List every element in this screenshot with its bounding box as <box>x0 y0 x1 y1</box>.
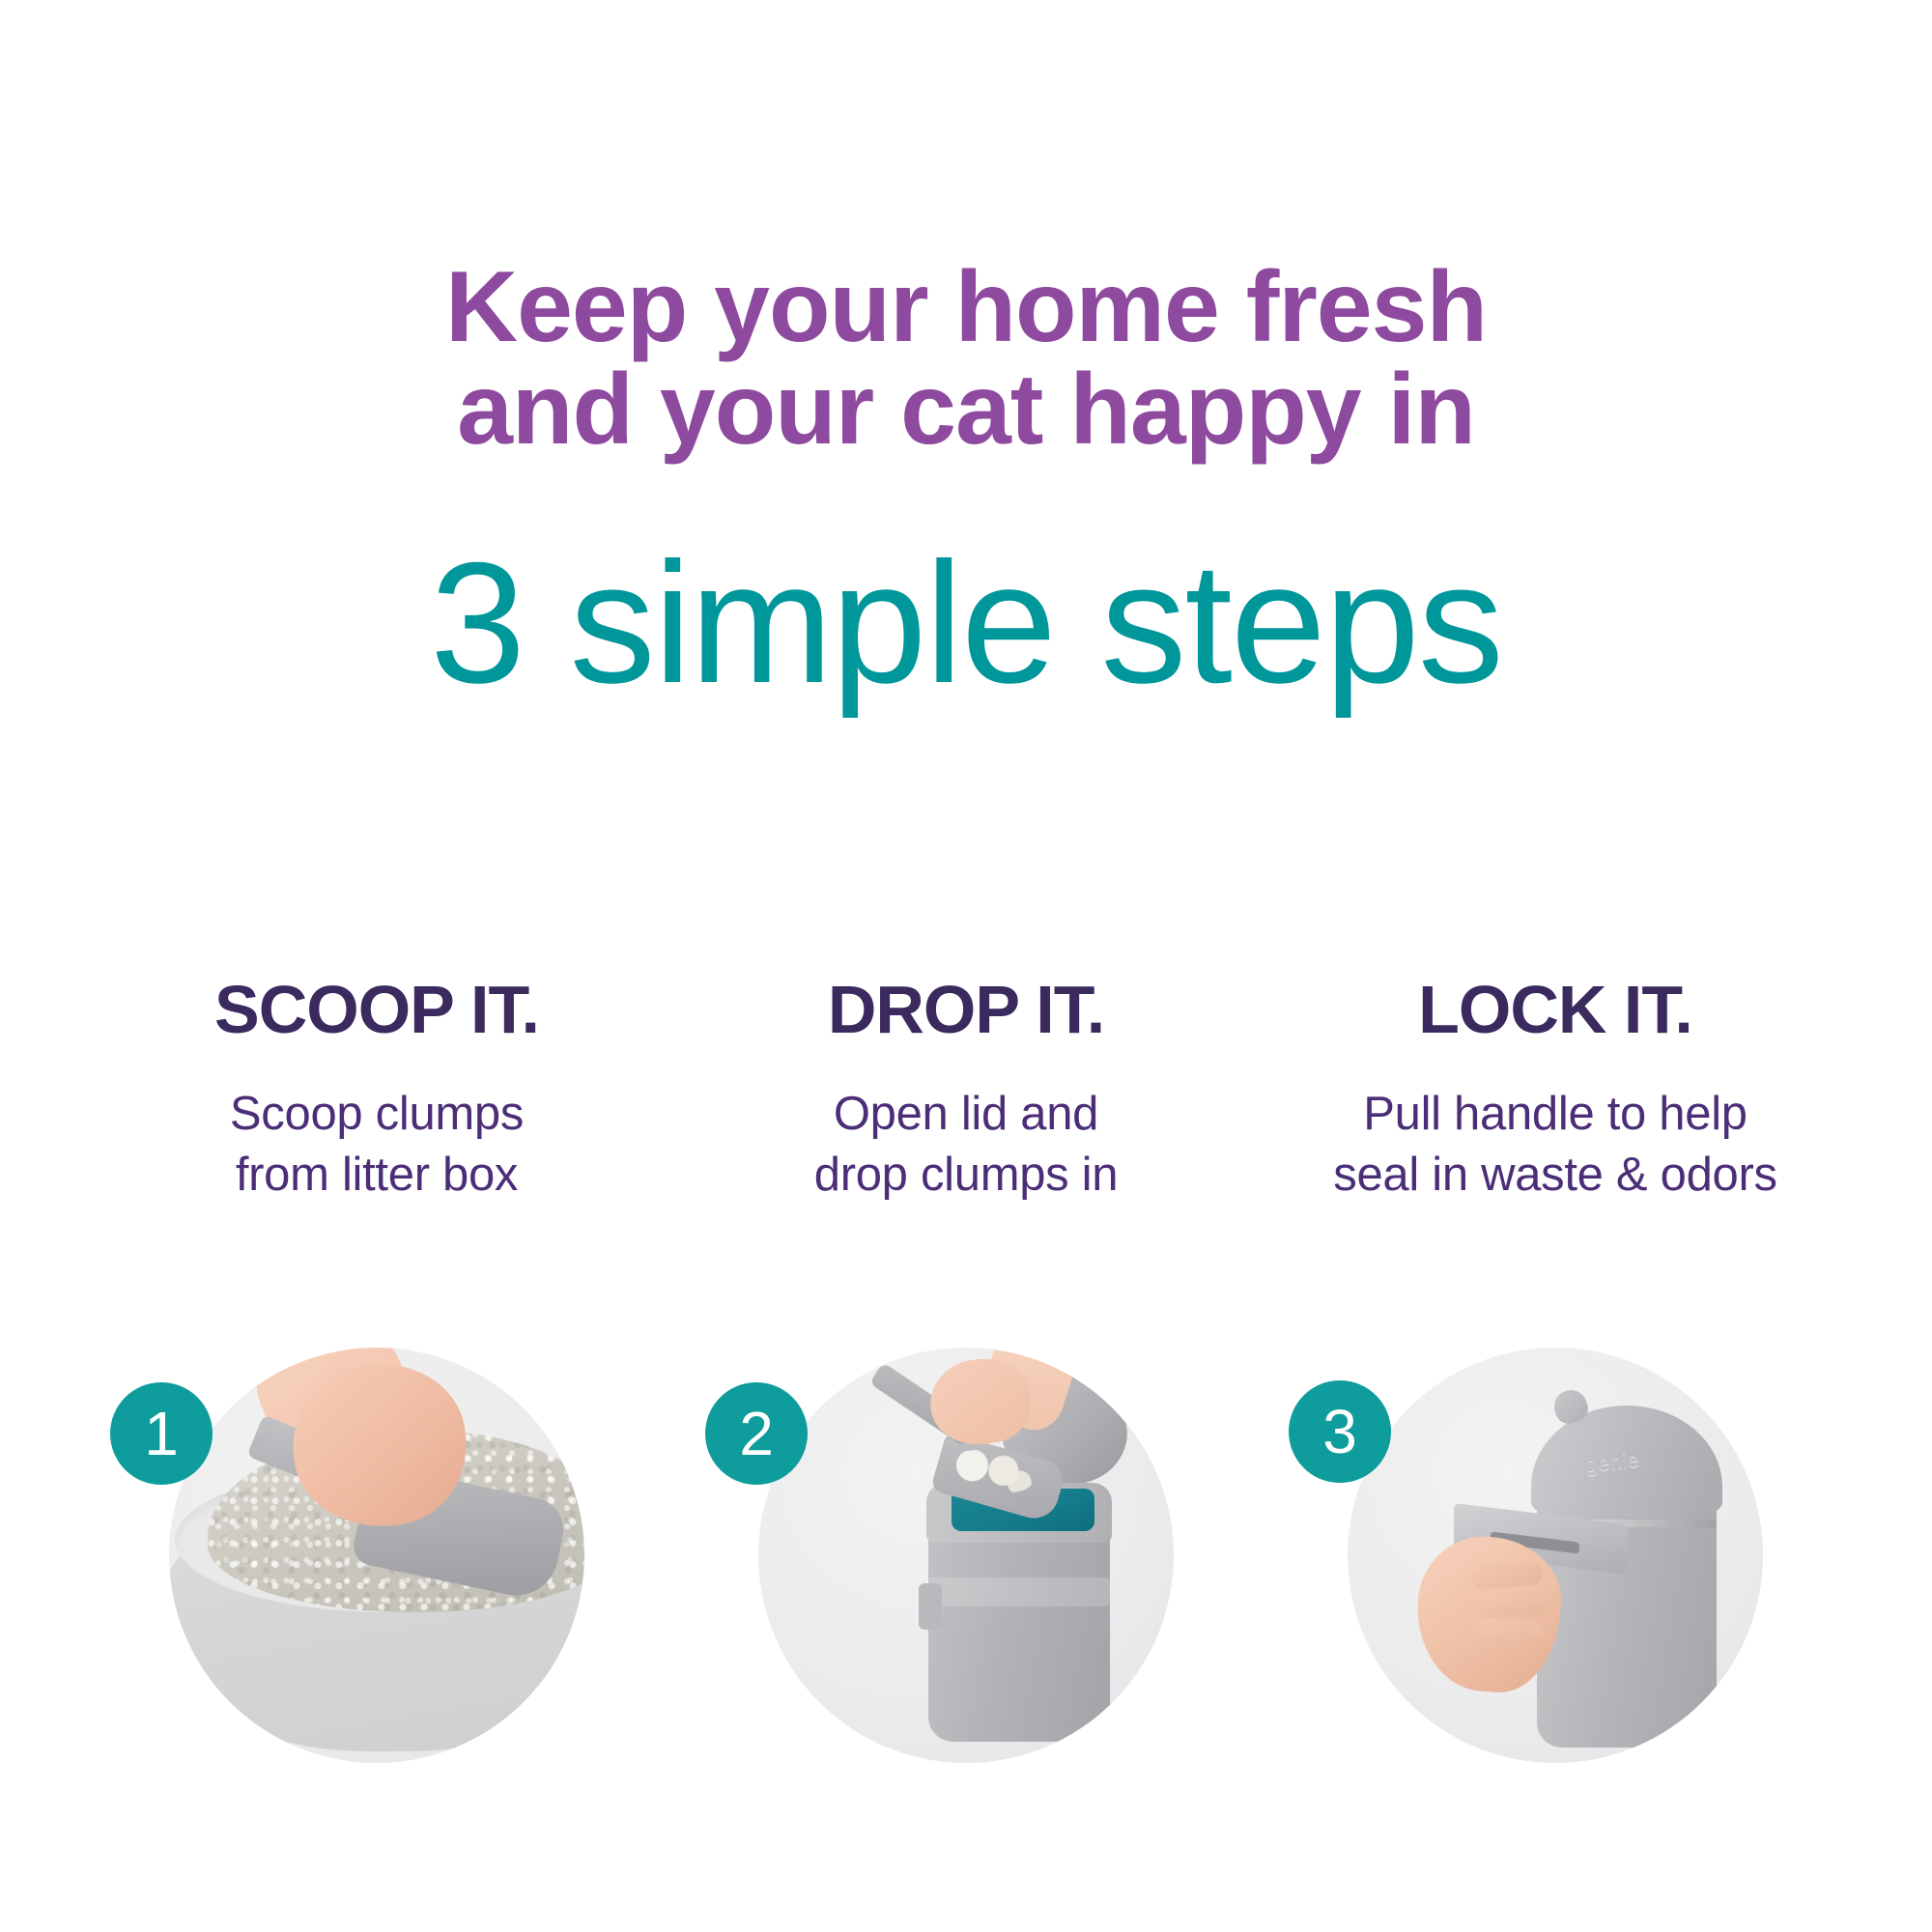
step-desc-drop-line-1: Open lid and <box>814 1084 1118 1145</box>
page-subheadline: 3 simple steps <box>0 537 1932 709</box>
photo-clip-2 <box>758 1348 1174 1763</box>
step-title-lock: LOCK IT. <box>1418 976 1692 1043</box>
photo-clip-1 <box>169 1348 584 1763</box>
step-column-1: SCOOP IT. Scoop clumps from litter box <box>87 976 667 1205</box>
step-photo-2: 2 <box>676 1338 1256 1782</box>
pail-side-latch-icon <box>919 1583 942 1630</box>
photo-clip-3: genie <box>1348 1348 1763 1763</box>
finger-icon <box>1475 1590 1548 1618</box>
infographic-poster: Keep your home fresh and your cat happy … <box>0 0 1932 1932</box>
step-badge-3: 3 <box>1289 1380 1391 1483</box>
step-desc-lock: Pull handle to help seal in waste & odor… <box>1333 1084 1776 1205</box>
headline-line-1: Keep your home fresh <box>0 256 1932 358</box>
photo-circle-1 <box>169 1348 584 1763</box>
step-title-drop: DROP IT. <box>828 976 1104 1043</box>
photo-circle-2 <box>758 1348 1174 1763</box>
step-badge-1: 1 <box>110 1382 213 1485</box>
step-desc-scoop: Scoop clumps from litter box <box>230 1084 524 1205</box>
step-column-2: DROP IT. Open lid and drop clumps in <box>676 976 1256 1205</box>
steps-text-row: SCOOP IT. Scoop clumps from litter box D… <box>87 976 1845 1205</box>
step-desc-lock-line-1: Pull handle to help <box>1333 1084 1776 1145</box>
step-column-3: LOCK IT. Pull handle to help seal in was… <box>1265 976 1845 1205</box>
pail-band-icon <box>928 1577 1110 1606</box>
step-desc-lock-line-2: seal in waste & odors <box>1333 1145 1776 1206</box>
step-badge-2: 2 <box>705 1382 808 1485</box>
step-photo-3: genie 3 <box>1265 1338 1845 1782</box>
finger-icon <box>1470 1559 1544 1589</box>
step-title-scoop: SCOOP IT. <box>214 976 539 1043</box>
step-desc-drop: Open lid and drop clumps in <box>814 1084 1118 1205</box>
step-photo-1: 1 <box>87 1338 667 1782</box>
page-headline: Keep your home fresh and your cat happy … <box>0 256 1932 461</box>
photo-circle-3: genie <box>1348 1348 1763 1763</box>
pail-body-icon <box>928 1510 1110 1742</box>
step-desc-drop-line-2: drop clumps in <box>814 1145 1118 1206</box>
step-desc-scoop-line-1: Scoop clumps <box>230 1084 524 1145</box>
headline-line-2: and your cat happy in <box>0 358 1932 461</box>
steps-photo-row: 1 2 <box>87 1338 1845 1782</box>
finger-icon <box>1473 1619 1546 1647</box>
step-desc-scoop-line-2: from litter box <box>230 1145 524 1206</box>
